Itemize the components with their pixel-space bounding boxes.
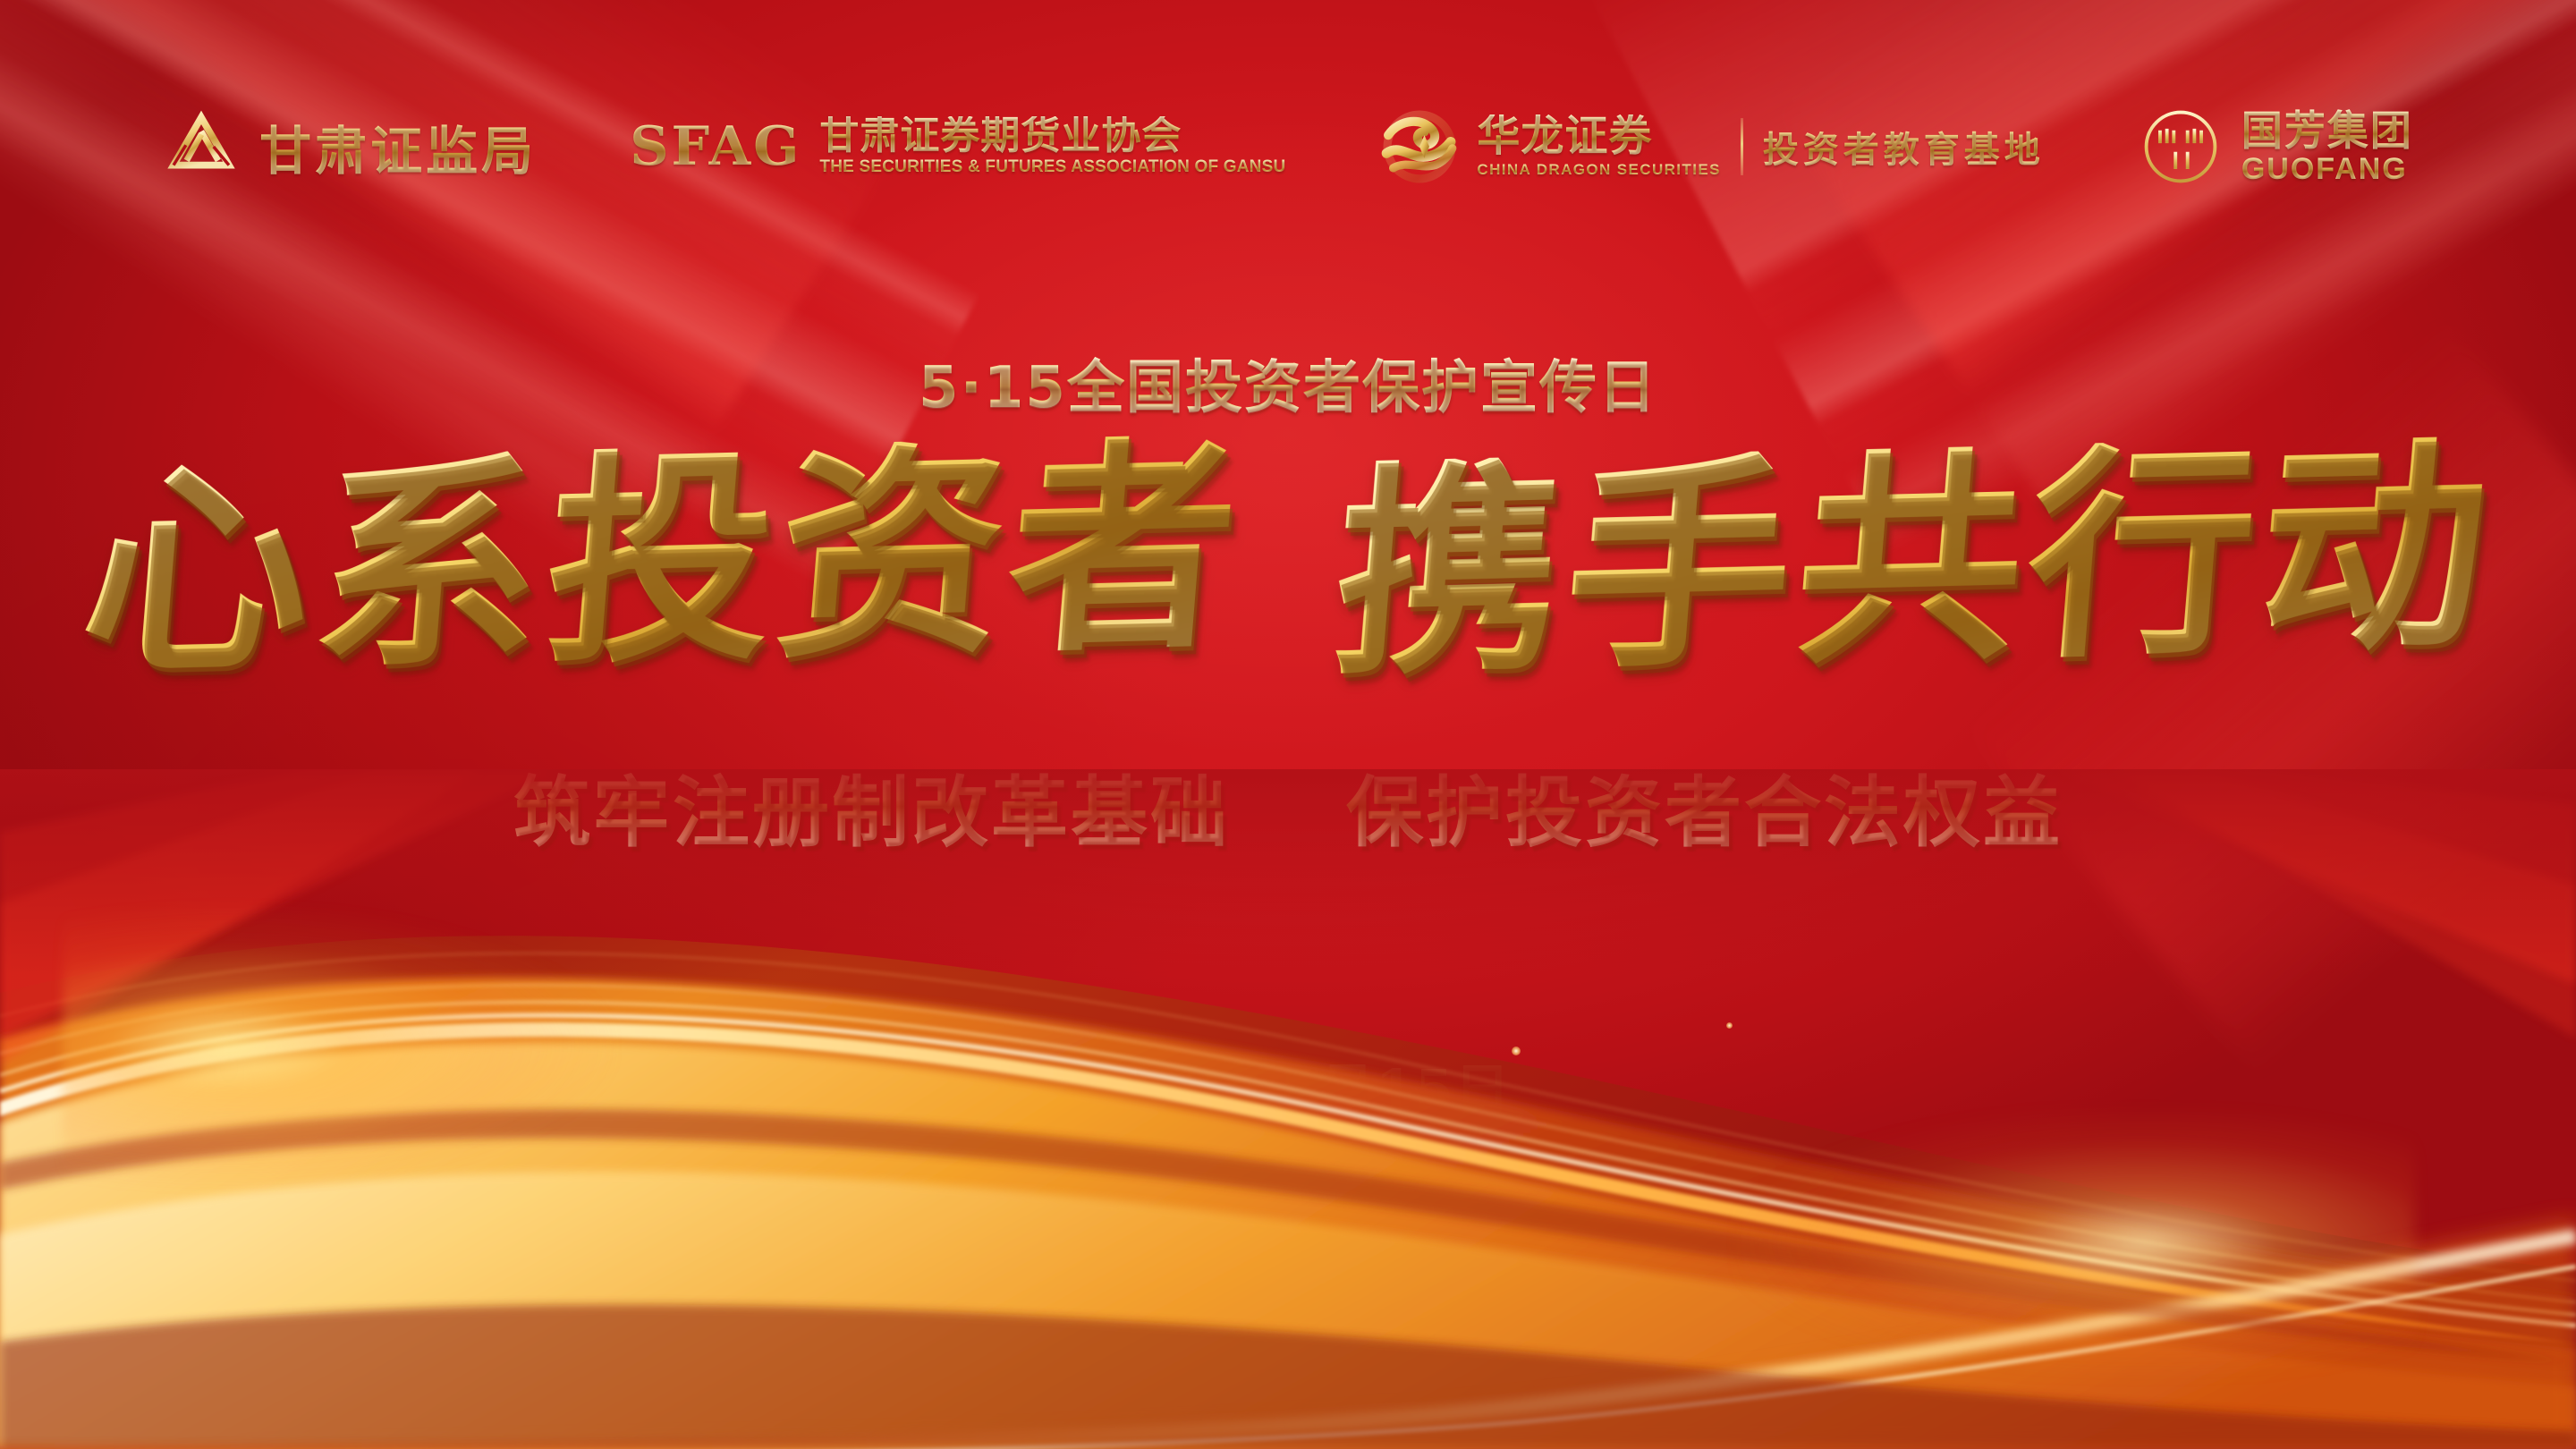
wave-glow-right xyxy=(1735,1109,2415,1377)
event-label-row: 5·15全国投资者保护宣传日 xyxy=(0,342,2576,424)
sfag-wordmark-icon: SFAG xyxy=(630,115,801,178)
logo-china-dragon-securities: 华龙证券 CHINA DRAGON SECURITIES 投资者教育基地 xyxy=(1378,106,2044,188)
subtitle-part-two: 保护投资者合法权益 xyxy=(1346,750,2063,861)
logo-guofang-en-label: GUOFANG xyxy=(2241,154,2413,184)
logo-sfag: SFAG 甘肃证券期货业协会 THE SECURITIES & FUTURES … xyxy=(630,115,1285,178)
logo-dragon-cn-label: 华龙证券 xyxy=(1477,114,1720,158)
slogan-part-two: 携手共行动 xyxy=(1326,433,2500,686)
logo-gansu-csrc-label: 甘肃证监局 xyxy=(259,109,537,184)
logo-sfag-en-label: THE SECURITIES & FUTURES ASSOCIATION OF … xyxy=(819,158,1285,177)
subtitle-row: 筑牢注册制改革基础 保护投资者合法权益 xyxy=(0,750,2576,861)
subtitle-part-one: 筑牢注册制改革基础 xyxy=(513,750,1230,861)
event-date: 2022年5月15日 xyxy=(1065,1045,1511,1125)
logo-gansu-csrc: 甘肃证监局 xyxy=(163,108,537,185)
logo-guofang-cn-label: 国芳集团 xyxy=(2241,109,2413,152)
sparkle-accent xyxy=(1512,1046,1521,1055)
logo-dragon-en-label: CHINA DRAGON SECURITIES xyxy=(1477,161,1720,179)
logo-sfag-cn-label: 甘肃证券期货业协会 xyxy=(819,116,1285,157)
sparkle-accent xyxy=(1726,1022,1733,1029)
cloth-sheen-overlay xyxy=(0,0,2576,1449)
sponsor-logo-bar: 甘肃证监局 SFAG 甘肃证券期货业协会 THE SECURITIES & FU… xyxy=(0,93,2576,200)
investor-education-base-label: 投资者教育基地 xyxy=(1763,121,2045,173)
logo-divider xyxy=(1741,118,1743,175)
banner-stage: 甘肃证监局 SFAG 甘肃证券期货业协会 THE SECURITIES & FU… xyxy=(0,0,2576,1449)
csrc-triangle-knot-icon xyxy=(163,108,240,185)
event-label: 5·15全国投资者保护宣传日 xyxy=(919,355,1657,421)
china-dragon-swoosh-icon xyxy=(1378,106,1461,188)
event-date-row: 2022年5月15日 xyxy=(0,1045,2576,1125)
slogan-part-one: 心系投资者 xyxy=(75,433,1250,686)
logo-guofang-group: 国芳集团 GUOFANG xyxy=(2138,104,2413,190)
guofang-deer-circle-icon xyxy=(2138,104,2224,190)
calligraphy-slogan: 心系投资者 携手共行动 xyxy=(0,447,2576,673)
